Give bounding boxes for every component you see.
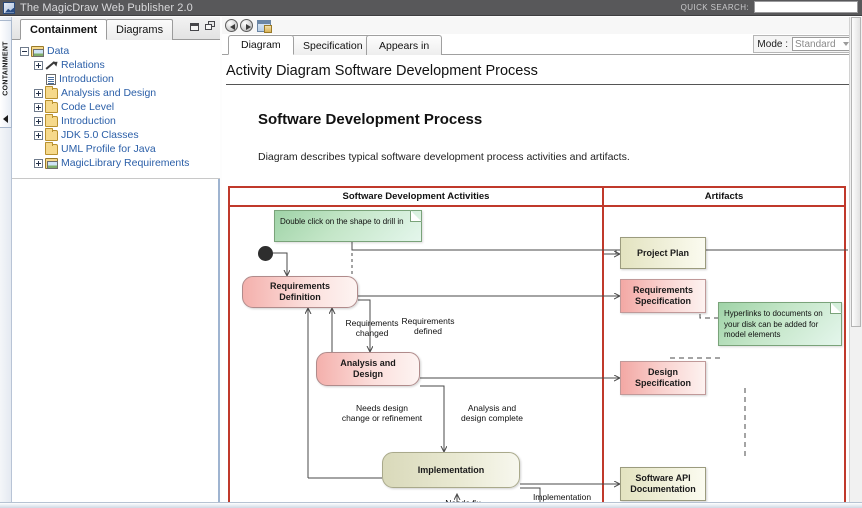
- quick-search-input[interactable]: [754, 1, 858, 13]
- tree-expander-none-icon: [34, 145, 43, 154]
- tree-item-label: Relations: [61, 59, 105, 71]
- document-icon: [46, 74, 56, 85]
- edge-label-analysis-design-complete: Analysis and design complete: [438, 403, 546, 423]
- tree-item-label: Introduction: [61, 115, 116, 127]
- tree-item[interactable]: Data: [12, 44, 220, 58]
- activity-implementation-label: Implementation: [418, 465, 485, 476]
- tab-appears-in[interactable]: Appears in: [366, 35, 442, 55]
- tab-appears-in-label: Appears in: [379, 40, 429, 52]
- folder-icon: [45, 88, 58, 99]
- sidebar-tab-diagrams[interactable]: Diagrams: [106, 19, 173, 40]
- relations-arrow-icon: [45, 60, 58, 71]
- page-title: Activity Diagram Software Development Pr…: [222, 63, 862, 79]
- expand-plus-icon[interactable]: [34, 89, 43, 98]
- artifact-design-specification-label: Design Specification: [635, 367, 691, 389]
- vertical-scrollbar-thumb[interactable]: [851, 17, 861, 327]
- sidebar-panel: Containment Diagrams DataRelationsIntrod…: [12, 17, 220, 508]
- tree-item[interactable]: UML Profile for Java: [12, 142, 220, 156]
- tree-item-label: Analysis and Design: [61, 87, 156, 99]
- tab-diagram-label: Diagram: [241, 39, 281, 51]
- quick-search: QUICK SEARCH:: [681, 1, 858, 13]
- folder-icon: [45, 116, 58, 127]
- tree-item-label: MagicLibrary Requirements: [61, 157, 189, 169]
- restore-icon[interactable]: [190, 21, 201, 32]
- initial-node: [258, 246, 273, 261]
- folder-icon: [45, 102, 58, 113]
- tree-item[interactable]: Analysis and Design: [12, 86, 220, 100]
- document-body: Software Development Process Diagram des…: [222, 85, 862, 508]
- activity-requirements-definition-label: Requirements Definition: [270, 281, 330, 303]
- containment-tree[interactable]: DataRelationsIntroductionAnalysis and De…: [12, 40, 220, 179]
- mode-select[interactable]: Standard: [792, 37, 852, 51]
- tab-specification[interactable]: Specification: [290, 35, 376, 55]
- sidebar-tab-containment[interactable]: Containment: [20, 19, 107, 40]
- artifact-project-plan[interactable]: Project Plan: [620, 237, 706, 269]
- tab-diagram[interactable]: Diagram: [228, 35, 294, 55]
- artifact-software-api-documentation-label: Software API Documentation: [630, 473, 696, 495]
- sidebar-tab-containment-label: Containment: [30, 24, 97, 36]
- title-bar: The MagicDraw Web Publisher 2.0 QUICK SE…: [0, 0, 862, 16]
- expand-plus-icon[interactable]: [34, 61, 43, 70]
- expand-plus-icon[interactable]: [34, 103, 43, 112]
- edge-label-requirements-defined: Requirements defined: [380, 316, 476, 336]
- tree-item[interactable]: Relations: [12, 58, 220, 72]
- tree-item-label: Introduction: [59, 73, 114, 85]
- mode-control: Mode : Standard: [753, 35, 856, 53]
- tree-item[interactable]: Code Level: [12, 100, 220, 114]
- circle-back-arrow-icon[interactable]: [225, 19, 238, 32]
- activity-implementation[interactable]: Implementation: [382, 452, 520, 488]
- model-folder-icon: [31, 46, 44, 57]
- sidebar-tabstrip: Containment Diagrams: [12, 17, 220, 40]
- tree-item[interactable]: MagicLibrary Requirements: [12, 156, 220, 170]
- artifact-software-api-documentation[interactable]: Software API Documentation: [620, 467, 706, 501]
- activity-analysis-and-design-label: Analysis and Design: [340, 358, 396, 380]
- tree-expander-none-icon: [34, 75, 43, 84]
- section-description: Diagram describes typical software devel…: [258, 151, 630, 163]
- containment-rail: CONTAINMENT: [0, 17, 12, 508]
- cascade-windows-icon[interactable]: [205, 21, 216, 32]
- artifact-requirements-specification[interactable]: Requirements Specification: [620, 279, 706, 313]
- tree-item[interactable]: Introduction: [12, 114, 220, 128]
- tree-item-label: JDK 5.0 Classes: [61, 129, 139, 141]
- edge-label-needs-design-change: Needs design change or refinement: [320, 403, 444, 423]
- expand-plus-icon[interactable]: [34, 131, 43, 140]
- collapse-minus-icon[interactable]: [20, 47, 29, 56]
- tab-specification-label: Specification: [303, 40, 363, 52]
- circle-forward-arrow-icon[interactable]: [240, 19, 253, 32]
- triangle-left-icon: [3, 115, 8, 123]
- hyperlinks-note[interactable]: Hyperlinks to documents on your disk can…: [718, 302, 842, 346]
- expand-plus-icon[interactable]: [34, 117, 43, 126]
- artifact-requirements-specification-label: Requirements Specification: [633, 285, 693, 307]
- tree-item-label: Code Level: [61, 101, 114, 113]
- content-panel: Diagram Specification Appears in Mode : …: [222, 17, 862, 508]
- window-icon[interactable]: [257, 20, 271, 32]
- hyperlinks-note-text: Hyperlinks to documents on your disk can…: [724, 309, 823, 339]
- containment-rail-label: CONTAINMENT: [3, 26, 10, 112]
- activity-analysis-and-design[interactable]: Analysis and Design: [316, 352, 420, 386]
- mode-label: Mode :: [757, 39, 788, 50]
- tree-item[interactable]: JDK 5.0 Classes: [12, 128, 220, 142]
- tree-item-label: UML Profile for Java: [61, 143, 156, 155]
- artifact-project-plan-label: Project Plan: [637, 248, 689, 259]
- drill-in-note[interactable]: Double click on the shape to drill in: [274, 210, 422, 242]
- drill-in-note-text: Double click on the shape to drill in: [280, 217, 404, 226]
- sidebar-panel-buttons: [190, 21, 216, 32]
- folder-icon: [45, 144, 58, 155]
- activity-requirements-definition[interactable]: Requirements Definition: [242, 276, 358, 308]
- tree-item[interactable]: Introduction: [12, 72, 220, 86]
- vertical-scrollbar[interactable]: [849, 17, 862, 508]
- folder-icon: [45, 130, 58, 141]
- containment-rail-tab[interactable]: CONTAINMENT: [0, 20, 12, 128]
- model-folder-icon: [45, 158, 58, 169]
- activity-diagram: Software Development Activities Artifact…: [228, 186, 846, 508]
- status-bar: [0, 502, 862, 508]
- application-window: The MagicDraw Web Publisher 2.0 QUICK SE…: [0, 0, 862, 508]
- mode-select-value: Standard: [795, 39, 836, 50]
- magicdraw-logo-icon: [3, 2, 15, 14]
- content-tabstrip: Diagram Specification Appears in Mode : …: [222, 35, 862, 55]
- sidebar-tab-diagrams-label: Diagrams: [116, 24, 163, 36]
- expand-plus-icon[interactable]: [34, 159, 43, 168]
- section-heading: Software Development Process: [258, 111, 482, 128]
- quick-search-label: QUICK SEARCH:: [681, 3, 749, 12]
- tree-item-label: Data: [47, 45, 69, 57]
- content-toolbar: [222, 17, 862, 34]
- artifact-design-specification[interactable]: Design Specification: [620, 361, 706, 395]
- window-title: The MagicDraw Web Publisher 2.0: [20, 2, 193, 14]
